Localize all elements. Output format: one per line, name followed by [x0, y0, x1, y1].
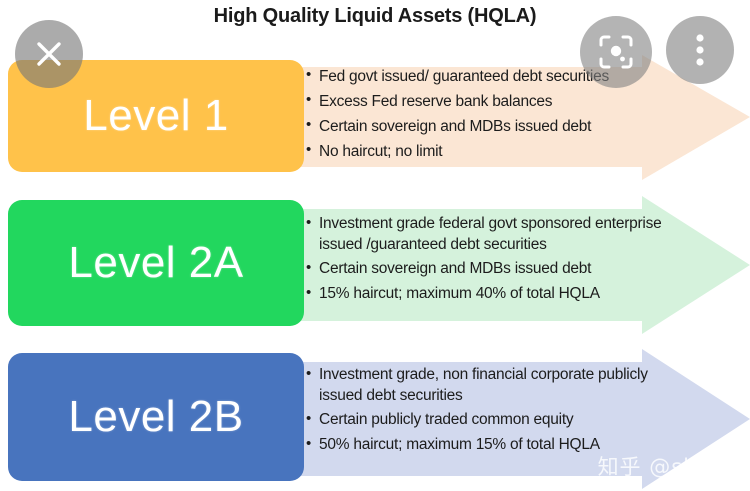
- list-item: Investment grade federal govt sponsored …: [306, 214, 671, 255]
- list-item: Excess Fed reserve bank balances: [306, 91, 609, 112]
- list-item: No haircut; no limit: [306, 141, 609, 162]
- list-item: Certain publicly traded common equity: [306, 410, 671, 431]
- level-1-bullet-list: Fed govt issued/ guaranteed debt securit…: [306, 66, 609, 162]
- list-item: Fed govt issued/ guaranteed debt securit…: [306, 66, 609, 87]
- list-item: Certain sovereign and MDBs issued debt: [306, 116, 609, 137]
- level-2b-label: Level 2B: [68, 392, 243, 442]
- more-vertical-icon: [694, 33, 706, 67]
- more-options-button[interactable]: [666, 16, 734, 84]
- level-1-label: Level 1: [83, 91, 228, 141]
- list-item: Investment grade, non financial corporat…: [306, 365, 671, 406]
- level-2a-label: Level 2A: [68, 238, 243, 288]
- close-icon: [32, 37, 66, 71]
- hqla-level-row-2: Level 2A Investment grade federal govt s…: [0, 196, 750, 334]
- watermark: 知乎 @sliova: [598, 451, 738, 481]
- level-2b-bullet-list: Investment grade, non financial corporat…: [306, 365, 671, 455]
- close-button[interactable]: [15, 20, 83, 88]
- level-2b-chip: Level 2B: [8, 353, 304, 481]
- list-item: 15% haircut; maximum 40% of total HQLA: [306, 284, 671, 305]
- image-viewer-stage: High Quality Liquid Assets (HQLA) Level …: [0, 0, 750, 491]
- level-2a-bullet-list: Investment grade federal govt sponsored …: [306, 214, 671, 304]
- list-item: Certain sovereign and MDBs issued debt: [306, 259, 671, 280]
- level-2a-chip: Level 2A: [8, 200, 304, 326]
- lens-icon: [597, 33, 635, 71]
- google-lens-button[interactable]: [580, 16, 652, 88]
